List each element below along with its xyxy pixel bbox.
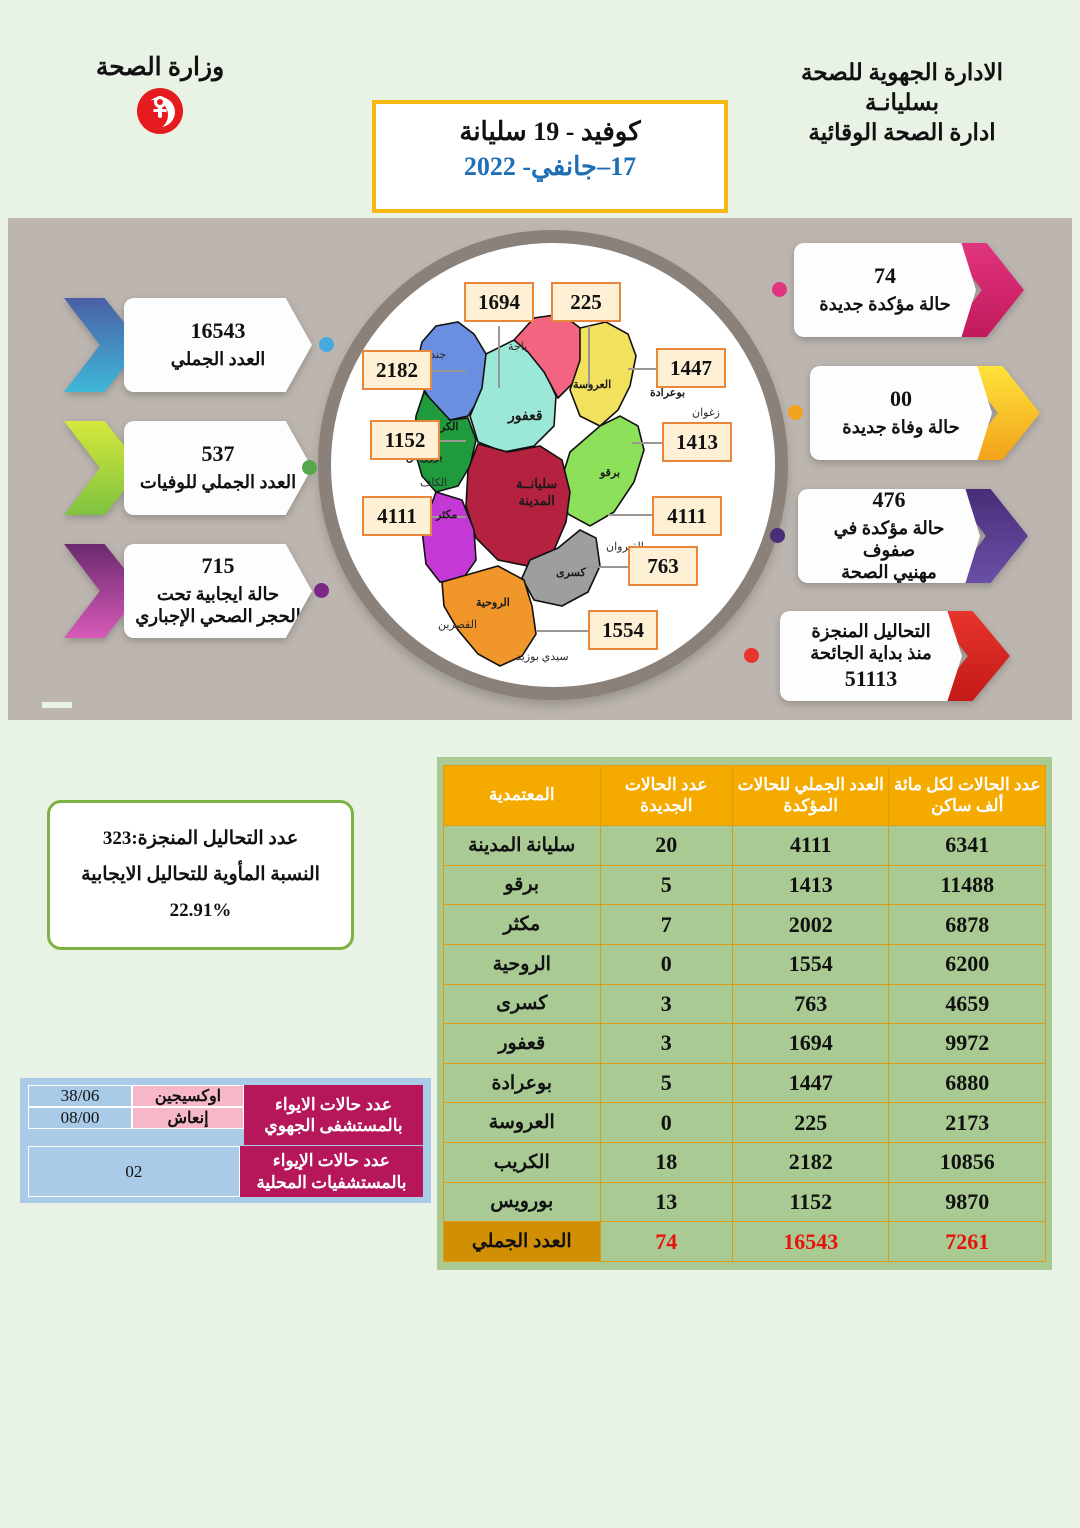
hospital-row-oxygen: عدد حالات الايواء بالمستشفى الجهوي اوكسي…	[28, 1085, 423, 1115]
regional-hospital-label: عدد حالات الايواء بالمستشفى الجهوي	[244, 1085, 423, 1145]
stat-label: حالة مؤكدة جديدة	[819, 294, 951, 316]
resuscitation-row: إنعاش 08/00	[28, 1107, 244, 1129]
map-region-bouarada	[570, 322, 636, 426]
cell-per-100k: 4659	[889, 984, 1046, 1024]
cell-total-confirmed: 1694	[732, 1024, 889, 1064]
panel-notch	[42, 702, 72, 708]
tests-summary-box: عدد التحاليل المنجزة:323 النسبة المأوية …	[47, 800, 354, 950]
cell-total-confirmed: 2182	[732, 1143, 889, 1183]
cell-total-confirmed: 2002	[732, 905, 889, 945]
oxygen-label: اوكسيجين	[132, 1085, 244, 1107]
org-line-2: بسليانـة	[752, 88, 1052, 118]
stat-plate: 715 حالة ايجابية تحت الحجر الصحي الإجبار…	[124, 544, 312, 638]
map-callout-makthar: 4111	[362, 496, 432, 536]
cell-per-100k: 10856	[889, 1143, 1046, 1183]
cell-delegation: سليانة المدينة	[444, 826, 601, 866]
cell-per-100k: 6878	[889, 905, 1046, 945]
map-label-siliana-ville: سليانــةالمدينة	[516, 476, 557, 510]
table-row: 46597633كسرى	[444, 984, 1046, 1024]
stat-plate: 16543 العدد الجملي	[124, 298, 312, 392]
stat-value: 74	[874, 264, 896, 288]
cell-total-confirmed: 225	[732, 1103, 889, 1143]
stat-label: التحاليل المنجزة منذ بداية الجائحة	[810, 621, 932, 665]
stat-plate: 476 حالة مؤكدة في صفوف مهنيي الصحة	[798, 489, 980, 583]
positivity-rate-label: النسبة المأوية للتحاليل الايجابية	[81, 857, 320, 893]
map-callout-bargou: 1413	[662, 422, 732, 462]
map-neighbour-beja: باجة	[508, 340, 527, 353]
oxygen-value: 38/06	[28, 1085, 132, 1107]
leader-gaafour	[498, 326, 500, 388]
table-row: 6341411120سليانة المدينة	[444, 826, 1046, 866]
map-callout-elkrib: 2182	[362, 350, 432, 390]
table-row: 687820027مكثر	[444, 905, 1046, 945]
table-row: 620015540الروحية	[444, 944, 1046, 984]
map-neighbour-zaghouan: زغوان	[692, 406, 720, 419]
map-neighbour-elkef: الكاف	[420, 476, 447, 489]
cell-delegation: بورويس	[444, 1182, 601, 1222]
map-callout-elaroussa: 225	[551, 282, 621, 322]
table-head: عدد الحالات لكل مائة ألف ساكن العدد الجم…	[444, 766, 1046, 826]
cell-total-confirmed: 4111	[732, 826, 889, 866]
cell-new-cases: 0	[600, 1103, 732, 1143]
local-hospital-label: عدد حالات الإيواء بالمستشفيات المحلية	[240, 1146, 423, 1197]
map-label-elaroussa: العروسة	[573, 378, 611, 391]
cell-per-100k: 6880	[889, 1063, 1046, 1103]
stat-label: حالة وفاة جديدة	[842, 417, 959, 439]
map-callout-gaafour: 1694	[464, 282, 534, 322]
cell-delegation: كسرى	[444, 984, 601, 1024]
tests-done-line: عدد التحاليل المنجزة:323	[103, 821, 298, 857]
positivity-rate-value: 22.91%	[170, 893, 232, 929]
stat-banner-new-deaths[interactable]: 00 حالة وفاة جديدة	[810, 366, 1040, 460]
cell-new-cases: 3	[600, 1024, 732, 1064]
stat-plate: 74 حالة مؤكدة جديدة	[794, 243, 976, 337]
stat-banner-health-workers[interactable]: 476 حالة مؤكدة في صفوف مهنيي الصحة	[798, 489, 1028, 583]
table-row: 1148814135برقو	[444, 865, 1046, 905]
stat-banner-total-tests[interactable]: التحاليل المنجزة منذ بداية الجائحة 51113	[780, 611, 1010, 701]
stat-value: 00	[890, 387, 912, 411]
cell-new-cases: 3	[600, 984, 732, 1024]
map-label-rouhia: الروحية	[476, 596, 510, 609]
stat-value: 16543	[191, 319, 246, 343]
table-row: 688014475بوعرادة	[444, 1063, 1046, 1103]
connector-dot-total-deaths	[302, 460, 317, 475]
stat-value: 715	[202, 554, 235, 578]
staff-crossbar-icon	[154, 109, 167, 112]
col-header-per-100k: عدد الحالات لكل مائة ألف ساكن	[889, 766, 1046, 826]
stat-plate: التحاليل المنجزة منذ بداية الجائحة 51113	[780, 611, 962, 701]
cell-per-100k: 9870	[889, 1182, 1046, 1222]
cell-delegation: قعفور	[444, 1024, 601, 1064]
stat-plate: 537 العدد الجملي للوفيات	[124, 421, 312, 515]
stat-value: 537	[202, 442, 235, 466]
cell-per-100k: 9972	[889, 1024, 1046, 1064]
cell-new-cases: 5	[600, 1063, 732, 1103]
stat-label: العدد الجملي	[171, 349, 266, 371]
cell-total-confirmed: 1447	[732, 1063, 889, 1103]
hospital-occupancy-box: عدد حالات الايواء بالمستشفى الجهوي اوكسي…	[20, 1078, 431, 1203]
table-total-row: 72611654374العدد الجملي	[444, 1222, 1046, 1262]
stat-plate: 00 حالة وفاة جديدة	[810, 366, 992, 460]
cell-total-confirmed: 763	[732, 984, 889, 1024]
cell-delegation: الكريب	[444, 1143, 601, 1183]
col-header-delegation: المعتمدية	[444, 766, 601, 826]
org-line-1: الادارة الجهوية للصحة	[752, 58, 1052, 88]
table-row: 10856218218الكريب	[444, 1143, 1046, 1183]
delegations-table-wrapper: عدد الحالات لكل مائة ألف ساكن العدد الجم…	[437, 757, 1052, 1270]
oxygen-row: اوكسيجين 38/06	[28, 1085, 244, 1107]
cell-new-cases: 20	[600, 826, 732, 866]
map-label-makthar: مكثر	[436, 508, 457, 521]
infographic-panel: الكريب العروسة بوعرادة قعفور بورويس برقو…	[8, 218, 1072, 720]
cell-per-100k: 6341	[889, 826, 1046, 866]
stat-value: 476	[873, 488, 906, 512]
stat-banner-total-deaths[interactable]: 537 العدد الجملي للوفيات	[64, 421, 312, 515]
connector-dot-new-deaths	[788, 405, 803, 420]
report-title: كوفيد - 19 سليانة	[376, 117, 724, 147]
resuscitation-label: إنعاش	[132, 1107, 244, 1129]
table-row: 997216943قعفور	[444, 1024, 1046, 1064]
cell-per-100k: 6200	[889, 944, 1046, 984]
org-line-3: ادارة الصحة الوقائية	[752, 118, 1052, 148]
ministry-health-logo-icon	[137, 88, 183, 134]
cell-new-cases: 13	[600, 1182, 732, 1222]
col-header-total-confirmed: العدد الجملي للحالات المؤكدة	[732, 766, 889, 826]
map-callout-siliana-ville: 4111	[652, 496, 722, 536]
staff-ring-icon	[154, 96, 166, 108]
hospital-row-local: عدد حالات الإيواء بالمستشفيات المحلية 02	[28, 1146, 423, 1197]
cell-delegation: العروسة	[444, 1103, 601, 1143]
stat-banner-new-cases[interactable]: 74 حالة مؤكدة جديدة	[794, 243, 1024, 337]
delegations-table: عدد الحالات لكل مائة ألف ساكن العدد الجم…	[443, 765, 1046, 1262]
regional-health-directorate-title: الادارة الجهوية للصحة بسليانـة ادارة الص…	[752, 58, 1052, 148]
map-label-gaafour: قعفور	[508, 408, 543, 425]
cell-total-confirmed: 1413	[732, 865, 889, 905]
total-cell-new-cases: 74	[600, 1222, 732, 1262]
stat-banner-total-cases[interactable]: 16543 العدد الجملي	[64, 298, 312, 392]
stat-banner-quarantine[interactable]: 715 حالة ايجابية تحت الحجر الصحي الإجبار…	[64, 544, 312, 638]
cell-new-cases: 18	[600, 1143, 732, 1183]
regional-values-group: اوكسيجين 38/06 إنعاش 08/00	[28, 1085, 244, 1115]
map-callout-bouarada: 1447	[656, 348, 726, 388]
stat-label: حالة مؤكدة في صفوف مهنيي الصحة	[808, 518, 970, 584]
map-label-kesra: كسرى	[556, 566, 586, 579]
table-row: 21732250العروسة	[444, 1103, 1046, 1143]
table-header-row: عدد الحالات لكل مائة ألف ساكن العدد الجم…	[444, 766, 1046, 826]
cell-per-100k: 11488	[889, 865, 1046, 905]
cell-total-confirmed: 1554	[732, 944, 889, 984]
page-header: الادارة الجهوية للصحة بسليانـة ادارة الص…	[0, 0, 1080, 215]
cell-delegation: مكثر	[444, 905, 601, 945]
cell-delegation: برقو	[444, 865, 601, 905]
local-hospital-value: 02	[28, 1146, 240, 1197]
map-callout-rouhia: 1554	[588, 610, 658, 650]
cell-new-cases: 0	[600, 944, 732, 984]
cell-new-cases: 7	[600, 905, 732, 945]
total-cell-label: العدد الجملي	[444, 1222, 601, 1262]
col-header-new-cases: عدد الحالات الجديدة	[600, 766, 732, 826]
map-neighbour-sidibouzid: سيدي بوزيد	[516, 650, 569, 663]
report-title-box: كوفيد - 19 سليانة 17–جانفي- 2022	[372, 100, 728, 213]
map-callout-kesra: 763	[628, 546, 698, 586]
report-date: 17–جانفي- 2022	[376, 152, 724, 182]
stat-label: العدد الجملي للوفيات	[140, 472, 296, 494]
cell-per-100k: 2173	[889, 1103, 1046, 1143]
table-body: 6341411120سليانة المدينة1148814135برقو68…	[444, 826, 1046, 1262]
resuscitation-value: 08/00	[28, 1107, 132, 1129]
cell-delegation: الروحية	[444, 944, 601, 984]
cell-total-confirmed: 1152	[732, 1182, 889, 1222]
ministry-name: وزارة الصحة	[30, 52, 290, 82]
total-cell-total-confirmed: 16543	[732, 1222, 889, 1262]
map-neighbour-kasserine: القصرين	[438, 618, 477, 631]
map-callout-bourouis: 1152	[370, 420, 440, 460]
table-row: 9870115213بورويس	[444, 1182, 1046, 1222]
cell-delegation: بوعرادة	[444, 1063, 601, 1103]
stat-label: حالة ايجابية تحت الحجر الصحي الإجباري	[135, 584, 300, 628]
cell-new-cases: 5	[600, 865, 732, 905]
total-cell-per-100k: 7261	[889, 1222, 1046, 1262]
map-label-bargou: برقو	[600, 466, 620, 479]
ministry-block: وزارة الصحة	[30, 52, 290, 134]
stat-value: 51113	[845, 667, 898, 691]
